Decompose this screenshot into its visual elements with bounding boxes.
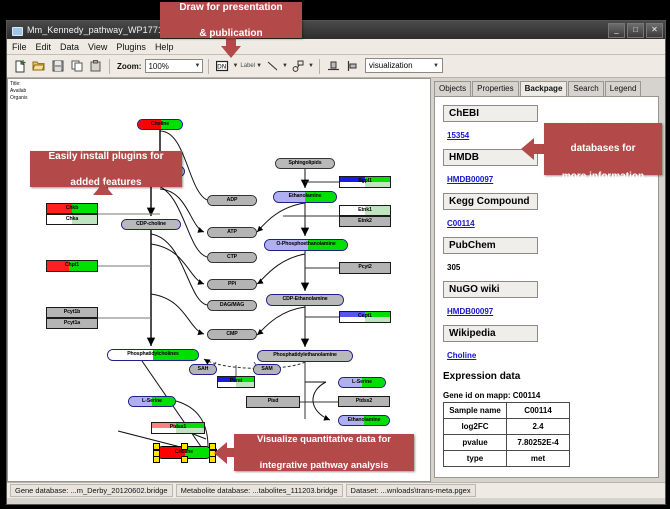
tab-properties[interactable]: Properties	[472, 81, 518, 96]
screenshot-root: Mm_Kennedy_pathway_WP1771_45176.gpml _ □…	[0, 0, 670, 509]
callout-links: Link to external databases for more info…	[544, 123, 662, 175]
title-bar: Mm_Kennedy_pathway_WP1771_45176.gpml _ □…	[7, 21, 665, 39]
pathway-node-ppi[interactable]: PPi	[207, 279, 257, 290]
callout-plugins: Easily install plugins for added feature…	[30, 151, 182, 187]
node-label: Choline	[175, 450, 193, 455]
shape-tool[interactable]: ▼	[290, 58, 314, 75]
node-label: Etnk2	[358, 219, 372, 224]
menu-item-view[interactable]: View	[88, 42, 107, 52]
chevron-down-icon[interactable]: ▼	[232, 63, 238, 69]
callout-visualize-line2: integrative pathway analysis	[251, 459, 397, 472]
pathway-node-cdp-choline[interactable]: CDP-choline	[121, 219, 181, 230]
db-link-wikipedia[interactable]: Choline	[447, 351, 476, 360]
pathway-node-phosphatidylethanolamine[interactable]: Phosphatidylethanolamine	[257, 350, 353, 362]
callout-links-arrow	[521, 138, 534, 160]
expr-key-type: type	[444, 451, 507, 467]
chevron-down-icon: ▼	[433, 63, 439, 69]
status-bar: Gene database: ...m_Derby_20120602.bridg…	[7, 482, 665, 498]
pathway-node-ptdss1[interactable]: Ptdss1	[151, 422, 205, 434]
expression-table: Sample name C00114 log2FC 2.4 pvalue 7.8…	[443, 402, 570, 467]
node-label: Etnk1	[358, 208, 372, 213]
pathway-node-ethanolamine-lower[interactable]: Ethanolamine	[338, 415, 390, 426]
window-controls: _ □ ✕	[608, 23, 663, 38]
minimize-button[interactable]: _	[608, 23, 625, 38]
node-label: Pemt	[230, 379, 242, 384]
menu-item-help[interactable]: Help	[155, 42, 174, 52]
pathway-node-cmp[interactable]: CMP	[207, 329, 257, 340]
pathway-node-o-phosphoethanolamine[interactable]: O-Phosphoethanolamine	[264, 239, 348, 251]
expr-val-pvalue: 7.80252E-4	[507, 435, 570, 451]
node-label: PPi	[228, 282, 236, 287]
zoom-label: Zoom:	[117, 62, 141, 71]
menu-item-plugins[interactable]: Plugins	[116, 42, 146, 52]
callout-draw: Draw for presentation & publication	[160, 2, 302, 38]
selection-handle[interactable]	[181, 443, 188, 450]
expr-val-sample-name: C00114	[507, 403, 570, 419]
expr-key-pvalue: pvalue	[444, 435, 507, 451]
pathway-node-pcyt2[interactable]: Pcyt2	[339, 262, 391, 274]
db-value-pubchem: 305	[447, 263, 460, 272]
table-row: log2FC 2.4	[444, 419, 570, 435]
label-tool-text: Label	[240, 63, 255, 69]
status-dataset: Dataset: ...wnloads\trans-meta.pgex	[346, 484, 476, 497]
expr-val-log2fc: 2.4	[507, 419, 570, 435]
pathway-node-dag-mag[interactable]: DAG/MAG	[207, 300, 257, 311]
node-label: Chkb	[66, 206, 79, 211]
shape-icon[interactable]	[290, 58, 307, 75]
application-window: Mm_Kennedy_pathway_WP1771_45176.gpml _ □…	[6, 20, 666, 505]
node-label: Sgpl1	[358, 179, 372, 184]
pathway-node-cept1[interactable]: Cept1	[339, 311, 391, 323]
table-row: type met	[444, 451, 570, 467]
visualization-value: visualization	[369, 61, 413, 70]
menu-item-file[interactable]: File	[12, 42, 27, 52]
tool-bar: Zoom: 100% ▼ DN ▼ Label ▼ ▼	[7, 55, 665, 78]
callout-links-line1: Link to external	[556, 114, 650, 128]
chevron-down-icon[interactable]: ▼	[308, 63, 314, 69]
status-metabolite-database: Metabolite database: ...tabolites_111203…	[176, 484, 343, 497]
pathway-node-sah[interactable]: SAH	[189, 364, 217, 375]
align-top-icon[interactable]	[325, 58, 342, 75]
toolbar-divider	[109, 59, 110, 74]
pathway-node-phosphatidylcholines[interactable]: Phosphatidylcholines	[107, 349, 199, 361]
node-label: Chka	[66, 217, 78, 222]
datanode-icon[interactable]: DN	[214, 58, 231, 75]
menu-item-data[interactable]: Data	[60, 42, 79, 52]
node-label: L-Serine	[352, 380, 372, 385]
callout-draw-line1: Draw for presentation	[173, 1, 288, 14]
node-label: O-Phosphoethanolamine	[276, 242, 335, 247]
callout-visualize: Visualize quantitative data for integrat…	[234, 434, 414, 471]
node-label: Pcyt1a	[64, 321, 80, 326]
node-label: SAM	[261, 367, 272, 372]
node-label: Chpt1	[65, 263, 79, 268]
label-tool[interactable]: Label ▼	[240, 63, 262, 69]
node-label: DAG/MAG	[220, 303, 244, 308]
table-row: pvalue 7.80252E-4	[444, 435, 570, 451]
db-link-hmdb[interactable]: HMDB00097	[447, 175, 493, 184]
pathway-node-pisd[interactable]: Pisd	[246, 396, 300, 408]
pathway-node-l-serine-right[interactable]: L-Serine	[338, 377, 386, 388]
node-label: CMP	[226, 332, 237, 337]
db-header-kegg: Kegg Compound	[443, 193, 538, 210]
callout-visualize-line1: Visualize quantitative data for	[251, 433, 397, 446]
node-label: Phosphatidylethanolamine	[273, 353, 337, 358]
pathway-node-sgpl1[interactable]: Sgpl1	[339, 176, 391, 188]
callout-plugins-line1: Easily install plugins for	[42, 150, 169, 163]
callout-links-line2: databases for	[556, 142, 650, 156]
pathway-canvas[interactable]: Title: Availab Organis	[7, 78, 431, 482]
node-label: CTP	[227, 255, 237, 260]
node-label: CDP-Ethanolamine	[282, 297, 327, 302]
app-icon	[11, 25, 22, 36]
save-icon[interactable]	[49, 58, 66, 75]
tab-objects[interactable]: Objects	[434, 81, 471, 96]
close-button[interactable]: ✕	[646, 23, 663, 38]
pathway-node-ethanolamine[interactable]: Ethanolamine	[273, 191, 337, 203]
pathway-node-atp[interactable]: ATP	[207, 227, 257, 238]
pathway-node-sphingolipids[interactable]: Sphingolipids	[275, 158, 335, 169]
db-header-wikipedia: Wikipedia	[443, 325, 538, 342]
pathway-node-chkb[interactable]: Chkb	[46, 203, 98, 214]
line-icon[interactable]	[264, 58, 281, 75]
status-gene-database: Gene database: ...m_Derby_20120602.bridg…	[10, 484, 173, 497]
pathway-node-pemt[interactable]: Pemt	[217, 376, 255, 388]
pathway-node-etnk1[interactable]: Etnk1	[339, 205, 391, 216]
node-label: Pcyt2	[358, 265, 371, 270]
node-label: ADP	[227, 198, 238, 203]
maximize-button[interactable]: □	[627, 23, 644, 38]
tab-backpage[interactable]: Backpage	[520, 81, 568, 96]
expression-data-heading: Expression data	[443, 371, 650, 382]
node-label: Ethanolamine	[289, 194, 322, 199]
callout-draw-line2: & publication	[173, 27, 288, 40]
pathway-node-ctp[interactable]: CTP	[207, 252, 257, 263]
node-label: Choline	[151, 122, 169, 127]
db-header-pubchem: PubChem	[443, 237, 538, 254]
node-label: Ptdss1	[170, 425, 186, 430]
menu-bar: File Edit Data View Plugins Help	[7, 39, 665, 55]
pathway-node-pcyt1b[interactable]: Pcyt1b	[46, 307, 98, 318]
line-tool[interactable]: ▼	[264, 58, 288, 75]
side-panel-tabs: Objects Properties Backpage Search Legen…	[434, 81, 659, 96]
chevron-down-icon[interactable]: ▼	[282, 63, 288, 69]
pathway-node-etnk2[interactable]: Etnk2	[339, 216, 391, 227]
pathway-node-chpt1[interactable]: Chpt1	[46, 260, 98, 272]
tab-legend[interactable]: Legend	[605, 81, 642, 96]
visualization-select[interactable]: visualization ▼	[365, 58, 443, 73]
new-icon[interactable]	[11, 58, 28, 75]
chevron-down-icon: ▼	[194, 63, 200, 69]
toolbar-divider	[208, 59, 209, 74]
db-link-chebi[interactable]: 15354	[447, 131, 469, 140]
node-label: Cept1	[358, 314, 372, 319]
pathway-node-cdp-ethanolamine[interactable]: CDP-Ethanolamine	[266, 294, 344, 306]
selection-handle[interactable]	[181, 456, 188, 463]
zoom-value: 100%	[148, 62, 168, 71]
pathway-node-ptdss2[interactable]: Ptdss2	[338, 396, 390, 407]
node-label: Ptdss2	[356, 399, 372, 404]
selection-handle[interactable]	[153, 456, 160, 463]
open-icon[interactable]	[30, 58, 47, 75]
node-label: ATP	[227, 230, 237, 235]
node-label: Phosphatidylcholines	[127, 352, 179, 357]
align-left-icon[interactable]	[344, 58, 361, 75]
callout-draw-arrow	[221, 46, 241, 58]
node-label: CDP-choline	[136, 222, 166, 227]
expr-val-type: met	[507, 451, 570, 467]
db-header-nugo: NuGO wiki	[443, 281, 538, 298]
node-label: Pisd	[268, 399, 279, 404]
node-label: SAH	[198, 367, 209, 372]
toolbar-divider	[319, 59, 320, 74]
svg-text:DN: DN	[218, 64, 227, 71]
pathway-node-l-serine-left[interactable]: L-Serine	[128, 396, 176, 407]
tab-search[interactable]: Search	[568, 81, 603, 96]
callout-plugins-arrow	[93, 183, 113, 195]
expr-key-log2fc: log2FC	[444, 419, 507, 435]
node-label: L-Serine	[142, 399, 162, 404]
pathway-node-chka[interactable]: Chka	[46, 214, 98, 225]
datanode-tool[interactable]: DN ▼	[214, 58, 238, 75]
db-link-nugo[interactable]: HMDB00097	[447, 307, 493, 316]
pathway-node-choline-top[interactable]: Choline	[137, 119, 183, 130]
expr-key-sample-name: Sample name	[444, 403, 507, 419]
chevron-down-icon[interactable]: ▼	[256, 63, 262, 69]
menu-item-edit[interactable]: Edit	[36, 42, 52, 52]
db-header-chebi: ChEBI	[443, 105, 538, 122]
pathway-node-sam[interactable]: SAM	[253, 364, 281, 375]
pathway-node-pcyt1a[interactable]: Pcyt1a	[46, 318, 98, 329]
zoom-select[interactable]: 100% ▼	[145, 59, 203, 73]
node-label: Sphingolipids	[289, 161, 322, 166]
gene-id-line: Gene id on mapp: C00114	[443, 391, 650, 400]
callout-visualize-arrow	[214, 442, 227, 464]
pathway-node-adp[interactable]: ADP	[207, 195, 257, 206]
db-link-kegg[interactable]: C00114	[447, 219, 475, 228]
table-row: Sample name C00114	[444, 403, 570, 419]
node-label: Pcyt1b	[64, 310, 80, 315]
copy-icon[interactable]	[68, 58, 85, 75]
callout-links-line3: more information	[556, 170, 650, 184]
node-label: Ethanolamine	[348, 418, 381, 423]
paste-icon[interactable]	[87, 58, 104, 75]
